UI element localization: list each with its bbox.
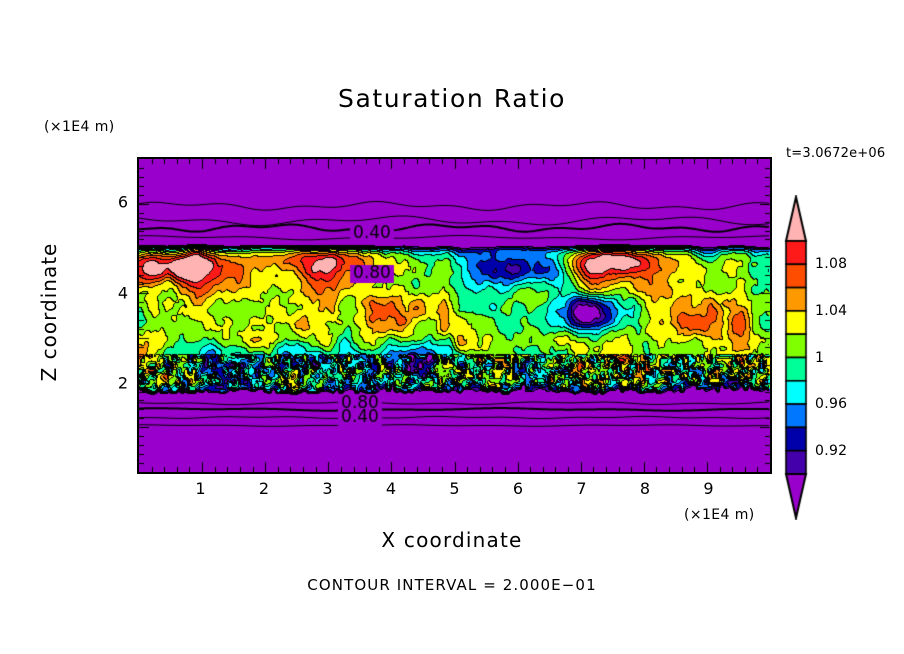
contour-plot-area — [137, 157, 772, 474]
x-tick-7: 7 — [576, 479, 586, 498]
colorbar-label-1: 1 — [815, 350, 824, 366]
page-title: Saturation Ratio — [0, 84, 904, 113]
x-tick-4: 4 — [386, 479, 396, 498]
y-axis-title: Z coordinate — [37, 227, 61, 397]
colorbar-label-1-08: 1.08 — [815, 256, 847, 272]
x-tick-3: 3 — [322, 479, 332, 498]
x-tick-5: 5 — [449, 479, 459, 498]
y-tick-2: 2 — [118, 374, 128, 393]
x-axis-title: X coordinate — [0, 528, 904, 552]
contour-interval-caption: CONTOUR INTERVAL = 2.000E−01 — [0, 576, 904, 594]
y-tick-4: 4 — [118, 283, 128, 302]
x-tick-2: 2 — [259, 479, 269, 498]
y-tick-6: 6 — [118, 193, 128, 212]
colorbar-label-0-92: 0.92 — [815, 443, 847, 459]
contour-canvas — [139, 159, 770, 472]
y-axis-unit-label: (×1E4 m) — [44, 119, 115, 135]
colorbar-label-1-04: 1.04 — [815, 303, 847, 319]
x-tick-8: 8 — [640, 479, 650, 498]
x-tick-9: 9 — [703, 479, 713, 498]
colorbar — [783, 195, 809, 520]
x-tick-1: 1 — [195, 479, 205, 498]
x-tick-6: 6 — [513, 479, 523, 498]
timestamp-label: t=3.0672e+06 — [786, 146, 885, 161]
x-axis-unit-label: (×1E4 m) — [684, 507, 755, 523]
colorbar-label-0-96: 0.96 — [815, 396, 847, 412]
